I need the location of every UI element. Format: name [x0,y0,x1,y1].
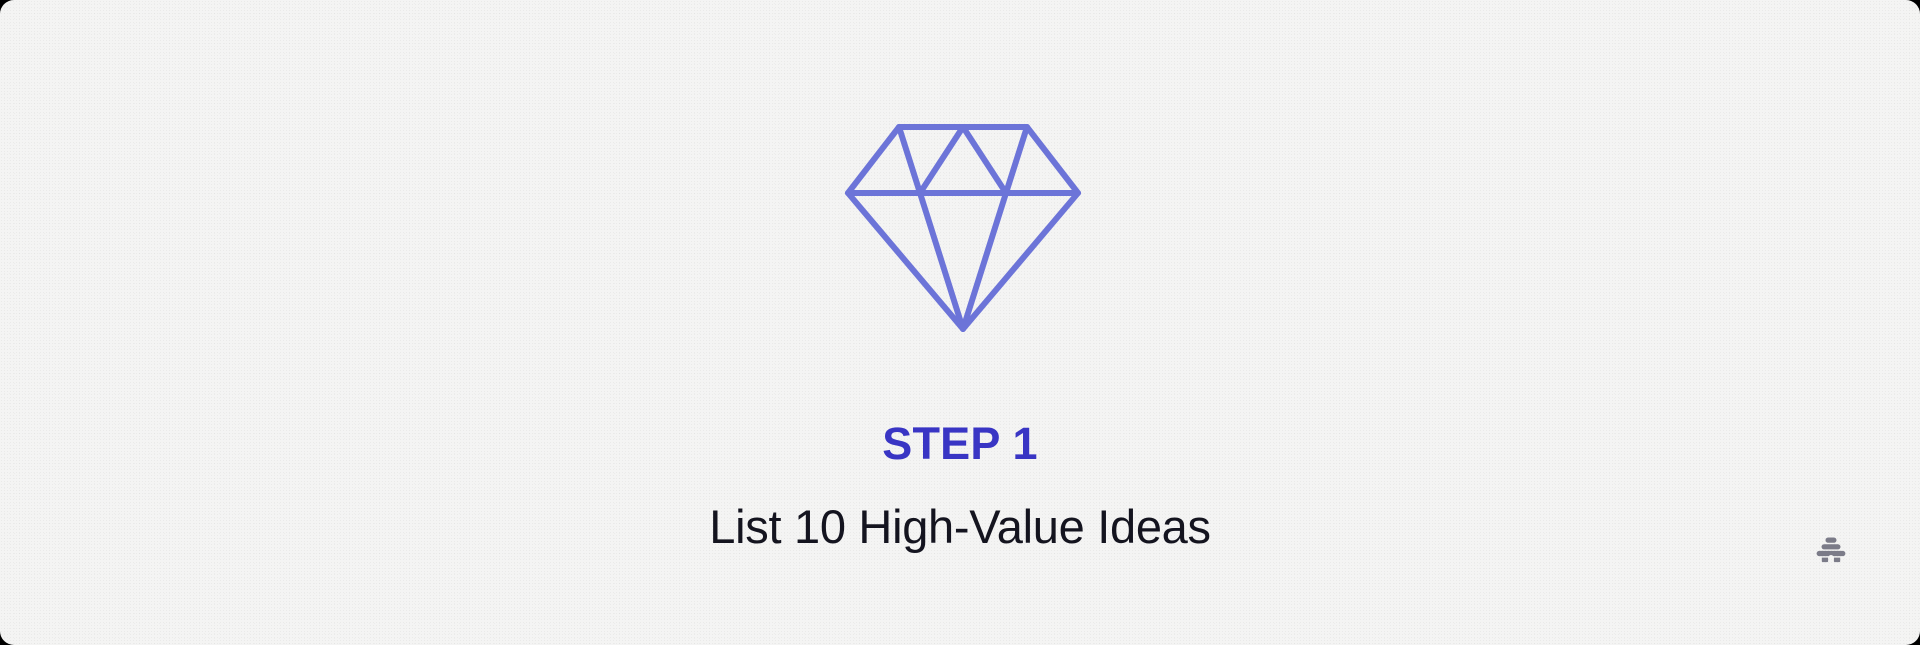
beehive-logo-icon [1813,530,1849,566]
slide-card: STEP 1 List 10 High-Value Ideas [0,0,1920,645]
step-title: List 10 High-Value Ideas [0,503,1920,550]
content-stack: STEP 1 List 10 High-Value Ideas [0,0,1920,645]
diamond-gem-icon [843,122,1083,334]
step-eyebrow-label: STEP 1 [0,421,1920,466]
